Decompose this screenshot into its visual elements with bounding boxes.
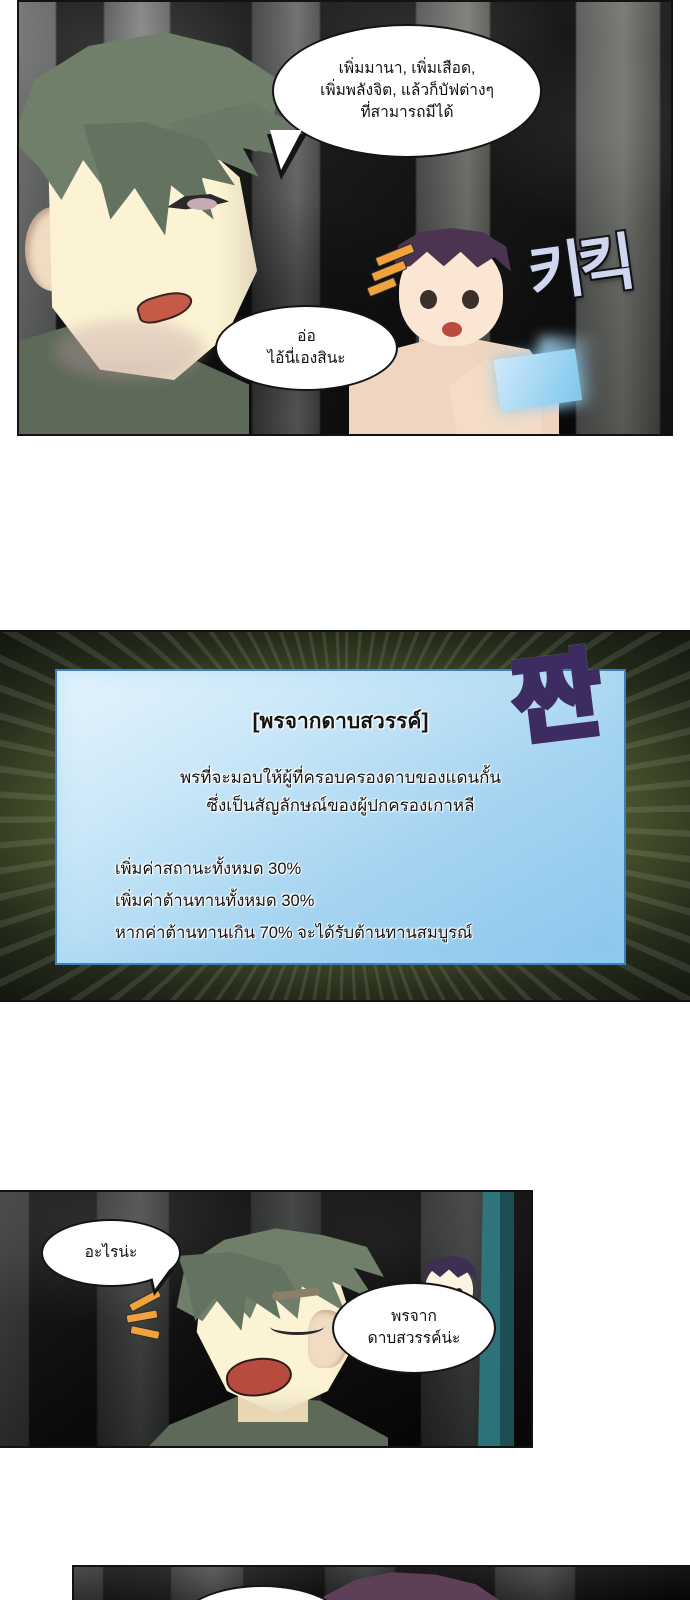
status-window-description: พรที่จะมอบให้ผู้ที่ครอบครองดาบของแดนกั้น… [83, 764, 598, 819]
bubble-4-text: พรจาก ดาบสวรรค์น่ะ [358, 1306, 471, 1350]
stat-line: เพิ่มค่าสถานะทั้งหมด 30% [115, 853, 598, 885]
speech-bubble-4: พรจาก ดาบสวรรค์น่ะ [332, 1282, 496, 1374]
eye-left [420, 290, 437, 309]
comic-page: 키킥 เพิ่มมานา, เพิ่มเสือด, เพิ่มพลังจิต, … [0, 0, 690, 1600]
panel-3: อะไรน่ะ พรจาก ดาบสวรรค์น่ะ [0, 1190, 533, 1448]
panel-4 [72, 1565, 690, 1600]
bubble-1-tail-fill [270, 130, 302, 170]
description-line: ซึ่งเป็นสัญลักษณ์ของผู้ปกครองเกาหลี [83, 792, 598, 820]
panel-1: 키킥 เพิ่มมานา, เพิ่มเสือด, เพิ่มพลังจิต, … [17, 0, 673, 436]
bubble-1-text: เพิ่มมานา, เพิ่มเสือด, เพิ่มพลังจิต, แล้… [310, 58, 504, 124]
sfx-text: 키킥 [524, 228, 635, 311]
teal-bar-edge [500, 1192, 514, 1448]
status-window-stats: เพิ่มค่าสถานะทั้งหมด 30% เพิ่มค่าต้านทาน… [83, 853, 598, 950]
bubble-3-text: อะไรน่ะ [75, 1242, 148, 1264]
sfx-text: 짠 [507, 640, 608, 757]
bubble-3-tail-fill [150, 1267, 171, 1289]
sfx-tada-icon: 짠 [504, 630, 609, 764]
mouth [442, 322, 462, 337]
eye-right [462, 290, 479, 309]
stat-line: เพิ่มค่าต้านทานทั้งหมด 30% [115, 885, 598, 917]
closed-eye [270, 1318, 324, 1335]
speech-bubble-1: เพิ่มมานา, เพิ่มเสือด, เพิ่มพลังจิต, แล้… [272, 24, 542, 158]
eye-highlight [187, 198, 217, 210]
jaw-shadow [54, 320, 204, 380]
stat-line: หากค่าต้านทานเกิน 70% จะได้รับต้านทานสมบ… [115, 917, 598, 949]
speech-bubble-2: อ่อ ไอ้นี่เองสินะ [215, 305, 398, 391]
description-line: พรที่จะมอบให้ผู้ที่ครอบครองดาบของแดนกั้น [83, 764, 598, 792]
bubble-2-text: อ่อ ไอ้นี่เองสินะ [257, 326, 355, 370]
panel-2: [พรจากดาบสวรรค์] พรที่จะมอบให้ผู้ที่ครอบ… [0, 630, 690, 1002]
sfx-snicker-icon: 키킥 [521, 211, 635, 314]
